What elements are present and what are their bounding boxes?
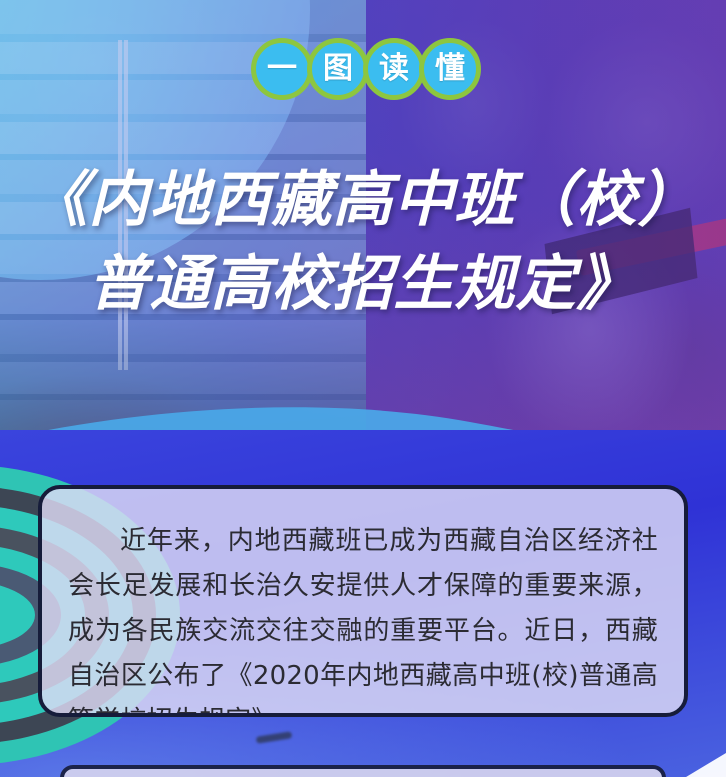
intro-card-body: 近年来，内地西藏班已成为西藏自治区经济社会长足发展和长治久安提供人才保障的重要来… [42, 489, 684, 717]
hero-banner: 一 图 读 懂 《内地西藏高中班（校） 普通高校招生规定》 [0, 0, 726, 470]
badge-dong-label: 懂 [435, 54, 465, 84]
poster-title: 《内地西藏高中班（校） 普通高校招生规定》 [0, 158, 726, 326]
badge-du-label: 读 [379, 54, 409, 84]
intro-paragraph: 近年来，内地西藏班已成为西藏自治区经济社会长足发展和长治久安提供人才保障的重要来… [68, 519, 658, 717]
badge-tu[interactable]: 图 [307, 38, 369, 100]
badge-yi-label: 一 [267, 54, 297, 84]
poster-title-line-1: 《内地西藏高中班（校） [28, 166, 699, 233]
badge-du[interactable]: 读 [363, 38, 425, 100]
poster-canvas: 一 图 读 懂 《内地西藏高中班（校） 普通高校招生规定》 近年来，内地西藏班已… [0, 0, 726, 777]
badge-yi[interactable]: 一 [251, 38, 313, 100]
badge-row: 一 图 读 懂 [0, 38, 726, 100]
badge-tu-label: 图 [323, 54, 353, 84]
poster-title-line-2: 普通高校招生规定》 [0, 242, 726, 326]
intro-content-card: 近年来，内地西藏班已成为西藏自治区经济社会长足发展和长治久安提供人才保障的重要来… [38, 485, 688, 717]
badge-dong[interactable]: 懂 [419, 38, 481, 100]
next-card-preview [60, 765, 666, 777]
